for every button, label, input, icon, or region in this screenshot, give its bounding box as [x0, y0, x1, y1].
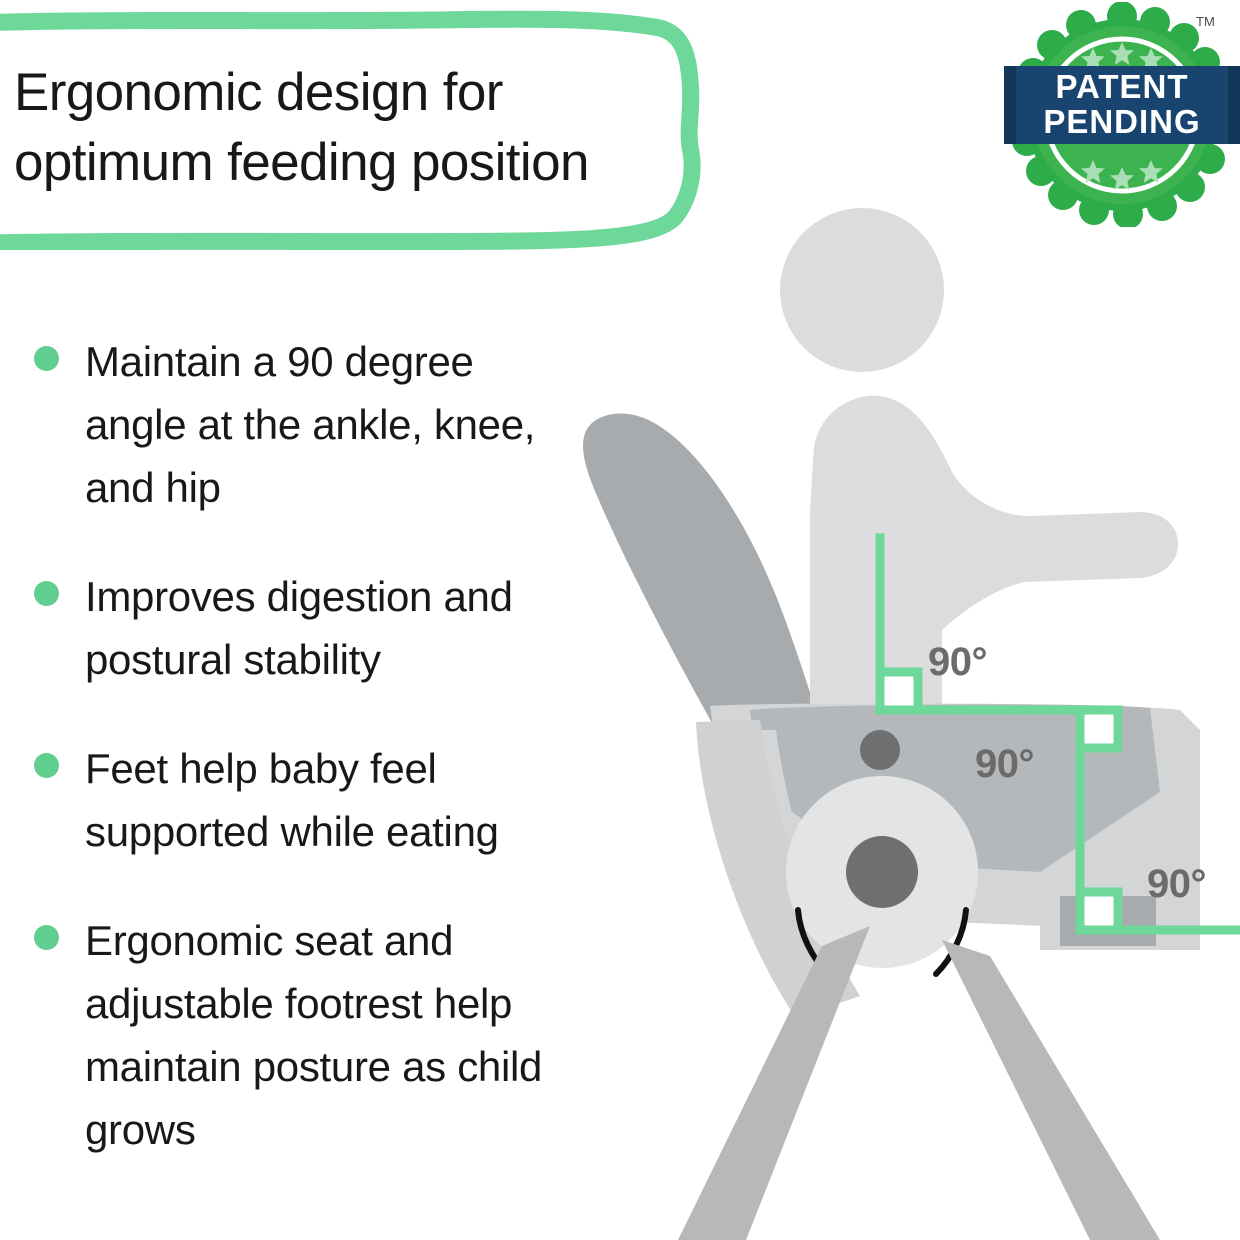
angle-corner-marker-hip [880, 672, 918, 710]
page-title: Ergonomic design for optimum feeding pos… [14, 58, 674, 198]
list-item: Ergonomic seat and adjustable footrest h… [34, 909, 614, 1161]
bullet-dot-icon [34, 925, 59, 950]
chair-hub-inner [846, 836, 918, 908]
list-item: Maintain a 90 degree angle at the ankle,… [34, 330, 614, 519]
bullet-dot-icon [34, 581, 59, 606]
list-item: Feet help baby feel supported while eati… [34, 737, 614, 863]
angle-corner-marker-knee [1080, 710, 1118, 748]
chair-leg-right [942, 940, 1160, 1240]
list-item-label: Maintain a 90 degree angle at the ankle,… [85, 330, 585, 519]
list-item-label: Improves digestion and postural stabilit… [85, 565, 585, 691]
trademark-icon: TM [1196, 14, 1215, 29]
angle-label-knee: 90° [975, 742, 1034, 787]
angle-label-ankle: 90° [1147, 862, 1206, 907]
page-title-line-2: optimum feeding position [14, 128, 674, 198]
list-item-label: Feet help baby feel supported while eati… [85, 737, 585, 863]
bullet-dot-icon [34, 346, 59, 371]
page-title-line-1: Ergonomic design for [14, 58, 674, 128]
badge-ribbon-line-2: PENDING [1043, 103, 1200, 140]
angle-corner-marker-ankle [1080, 892, 1118, 930]
child-head [780, 208, 944, 372]
badge-ribbon-line-1: PATENT [1055, 68, 1188, 105]
highchair-posture-illustration [560, 210, 1240, 1240]
list-item-label: Ergonomic seat and adjustable footrest h… [85, 909, 585, 1161]
patent-pending-badge: PATENT PENDING TM [1004, 2, 1240, 227]
bullet-dot-icon [34, 753, 59, 778]
seat-detail-dot [860, 730, 900, 770]
child-torso-arm [810, 396, 1178, 730]
benefit-list: Maintain a 90 degree angle at the ankle,… [34, 330, 614, 1207]
angle-label-hip: 90° [928, 640, 987, 685]
list-item: Improves digestion and postural stabilit… [34, 565, 614, 691]
